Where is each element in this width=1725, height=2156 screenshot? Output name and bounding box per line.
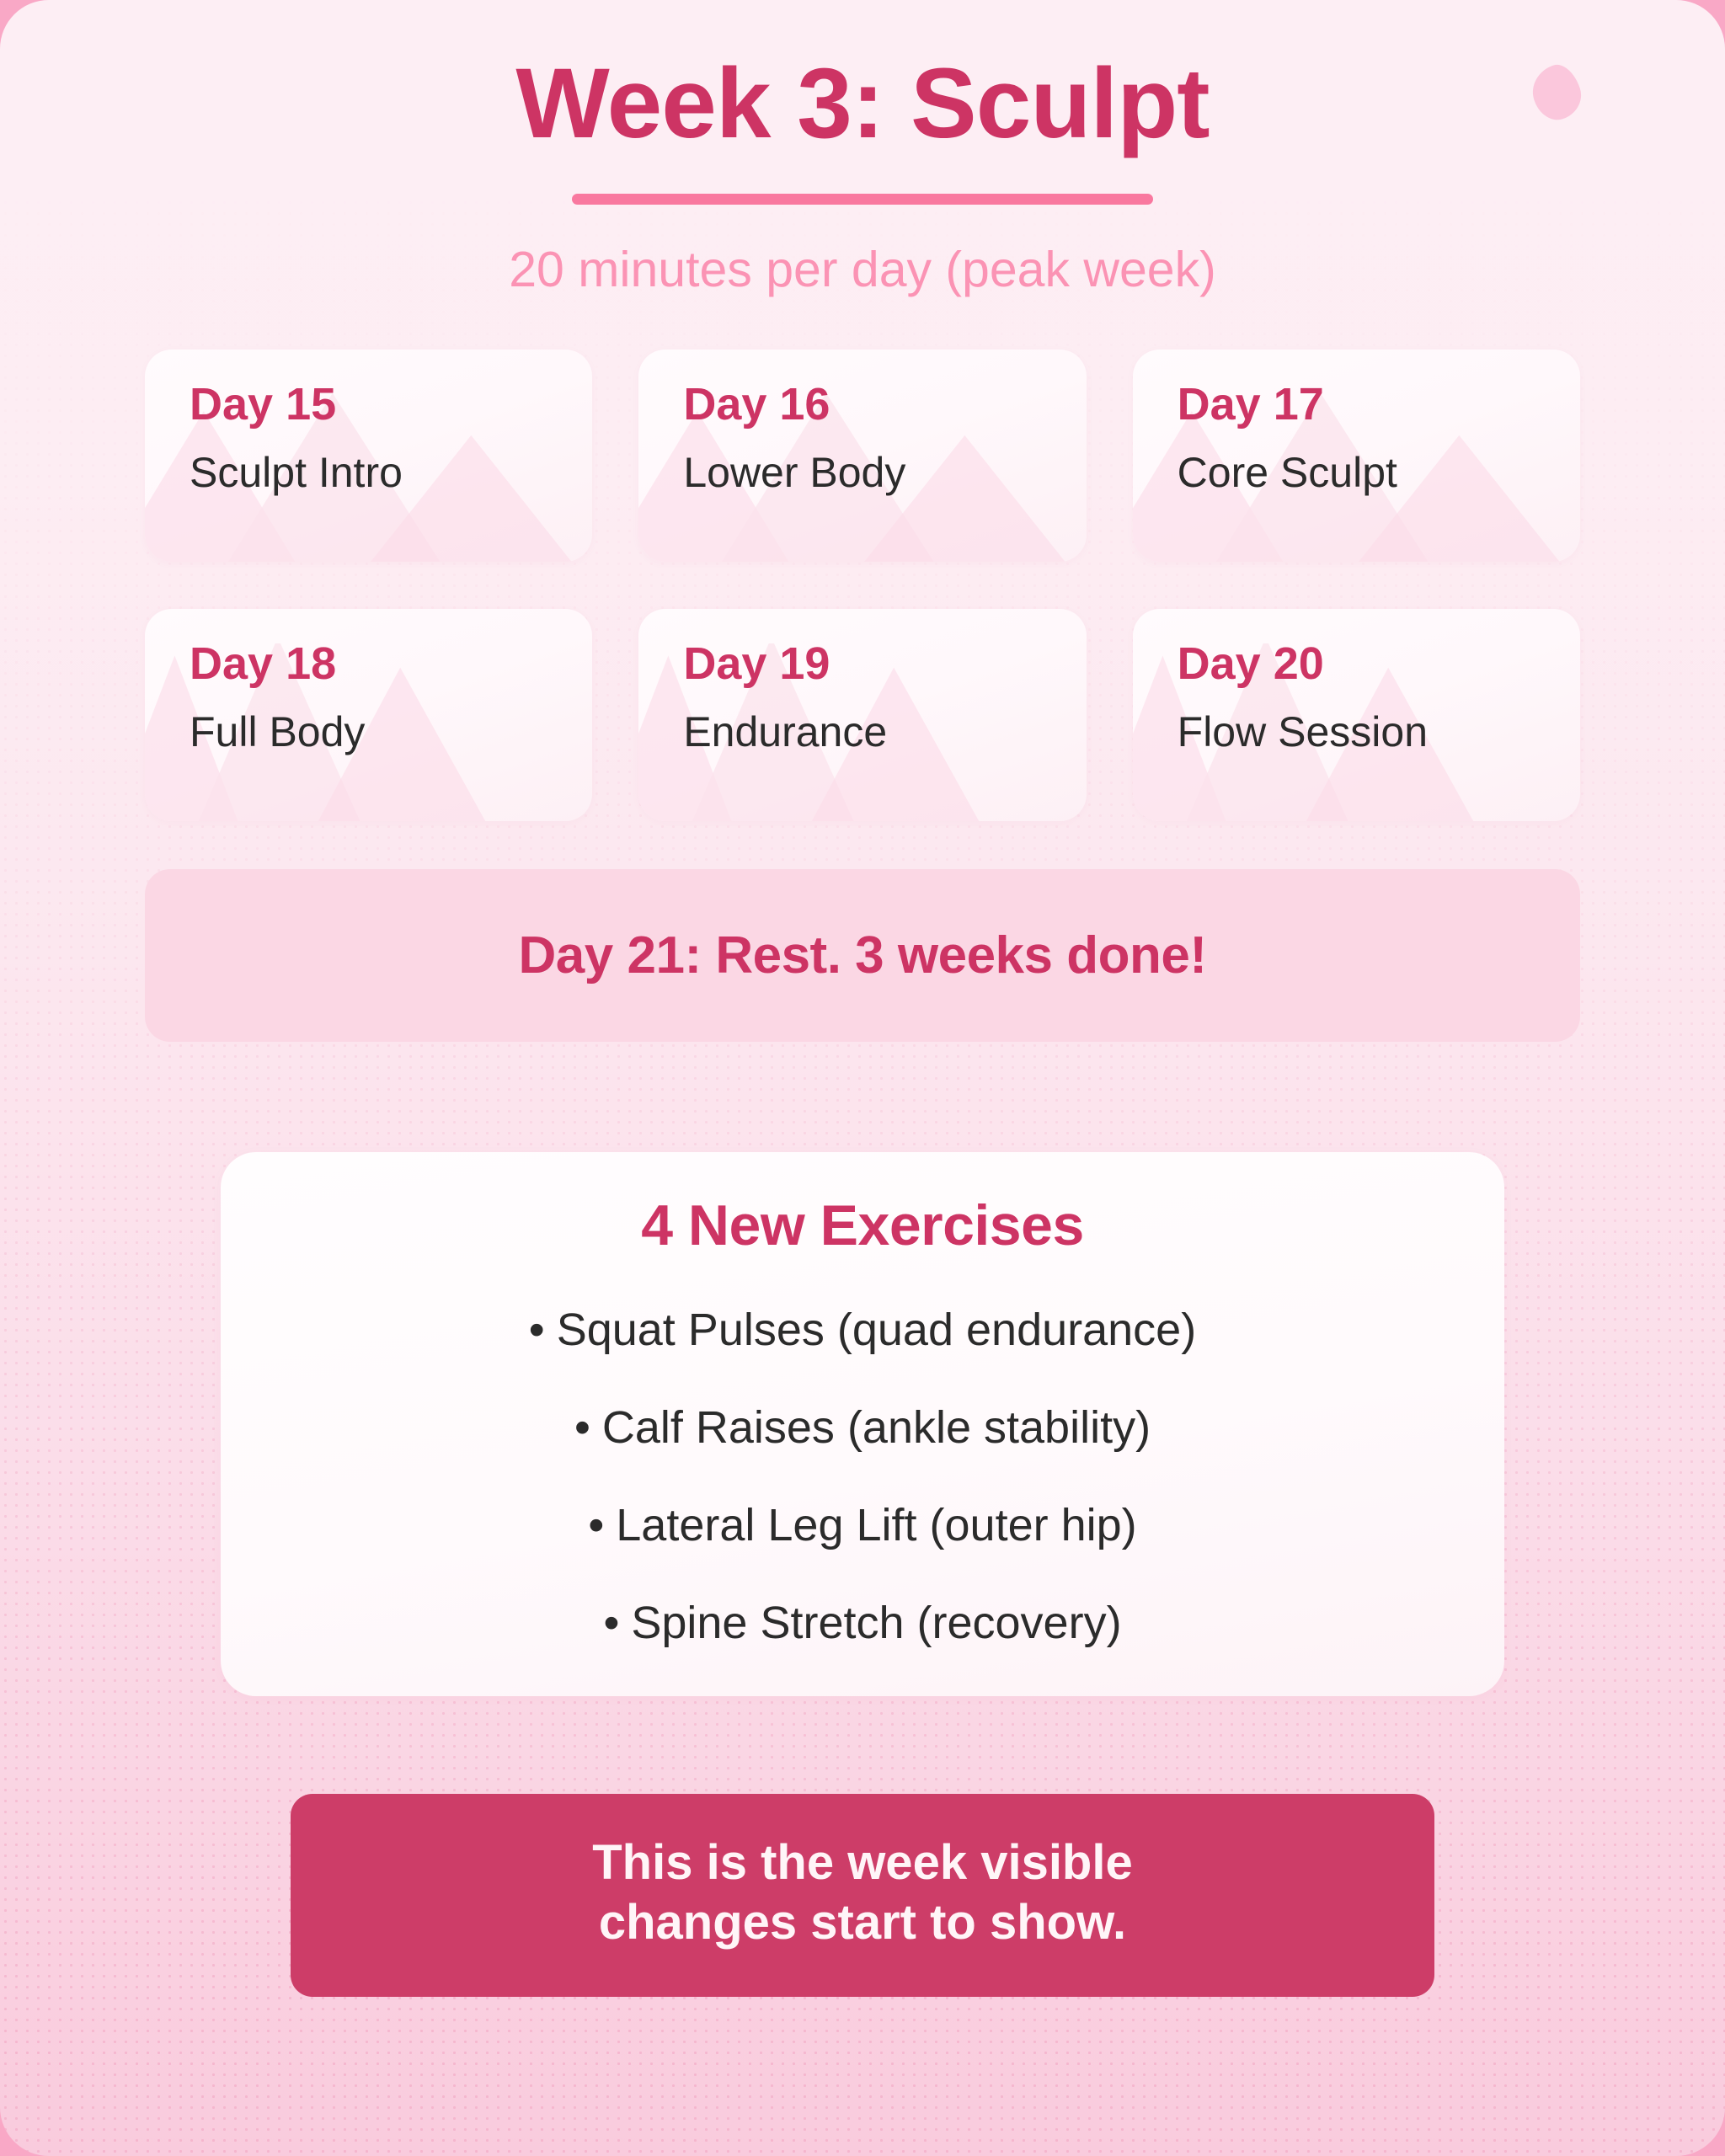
list-item: •Calf Raises (ankle stability): [221, 1405, 1504, 1450]
day-card[interactable]: Day 16 Lower Body: [638, 350, 1086, 562]
new-exercises-title: 4 New Exercises: [221, 1193, 1504, 1258]
rest-day-banner-text: Day 21: Rest. 3 weeks done!: [519, 926, 1207, 985]
day-card[interactable]: Day 20 Flow Session: [1133, 609, 1580, 821]
day-focus: Endurance: [683, 711, 1086, 753]
day-card-text: Day 18 Full Body: [190, 641, 592, 753]
day-card-text: Day 19 Endurance: [683, 641, 1086, 753]
exercise-label: Lateral Leg Lift (outer hip): [616, 1500, 1136, 1550]
day-focus: Full Body: [190, 711, 592, 753]
day-label: Day 18: [190, 641, 592, 686]
day-card-text: Day 15 Sculpt Intro: [190, 382, 592, 494]
day-focus: Flow Session: [1178, 711, 1580, 753]
callout-cta-button[interactable]: This is the week visible changes start t…: [291, 1794, 1434, 1998]
exercise-label: Calf Raises (ankle stability): [602, 1402, 1151, 1453]
day-card[interactable]: Day 19 Endurance: [638, 609, 1086, 821]
header-subtitle: 20 minutes per day (peak week): [0, 244, 1725, 296]
day-card[interactable]: Day 17 Core Sculpt: [1133, 350, 1580, 562]
rest-day-banner: Day 21: Rest. 3 weeks done!: [145, 869, 1580, 1042]
list-item: •Spine Stretch (recovery): [221, 1600, 1504, 1646]
day-focus: Core Sculpt: [1178, 451, 1580, 494]
title-underline-rule: [572, 194, 1153, 205]
day-label: Day 20: [1178, 641, 1580, 686]
bullet-icon: •: [574, 1402, 590, 1453]
exercise-label: Spine Stretch (recovery): [631, 1598, 1121, 1648]
day-label: Day 15: [190, 382, 592, 427]
bullet-icon: •: [588, 1500, 604, 1550]
day-card-text: Day 16 Lower Body: [683, 382, 1086, 494]
day-card-text: Day 20 Flow Session: [1178, 641, 1580, 753]
cta-line-1: This is the week visible: [592, 1835, 1132, 1890]
day-card-text: Day 17 Core Sculpt: [1178, 382, 1580, 494]
bullet-icon: •: [529, 1305, 545, 1355]
new-exercises-panel: 4 New Exercises •Squat Pulses (quad endu…: [221, 1152, 1504, 1696]
cta-line-2: changes start to show.: [599, 1895, 1126, 1950]
exercise-label: Squat Pulses (quad endurance): [557, 1305, 1197, 1355]
page-title: Week 3: Sculpt: [0, 54, 1725, 153]
day-focus: Lower Body: [683, 451, 1086, 494]
new-exercises-list: •Squat Pulses (quad endurance) •Calf Rai…: [221, 1307, 1504, 1646]
day-card[interactable]: Day 18 Full Body: [145, 609, 592, 821]
day-label: Day 19: [683, 641, 1086, 686]
list-item: •Squat Pulses (quad endurance): [221, 1307, 1504, 1353]
list-item: •Lateral Leg Lift (outer hip): [221, 1502, 1504, 1548]
day-card-grid: Day 15 Sculpt Intro Day 16 Lower Body: [145, 350, 1580, 821]
poster-content: Week 3: Sculpt 20 minutes per day (peak …: [0, 0, 1725, 1997]
header: Week 3: Sculpt 20 minutes per day (peak …: [0, 0, 1725, 296]
day-focus: Sculpt Intro: [190, 451, 592, 494]
day-card[interactable]: Day 15 Sculpt Intro: [145, 350, 592, 562]
day-label: Day 17: [1178, 382, 1580, 427]
bullet-icon: •: [603, 1598, 619, 1648]
poster-page: Week 3: Sculpt 20 minutes per day (peak …: [0, 0, 1725, 2156]
day-label: Day 16: [683, 382, 1086, 427]
